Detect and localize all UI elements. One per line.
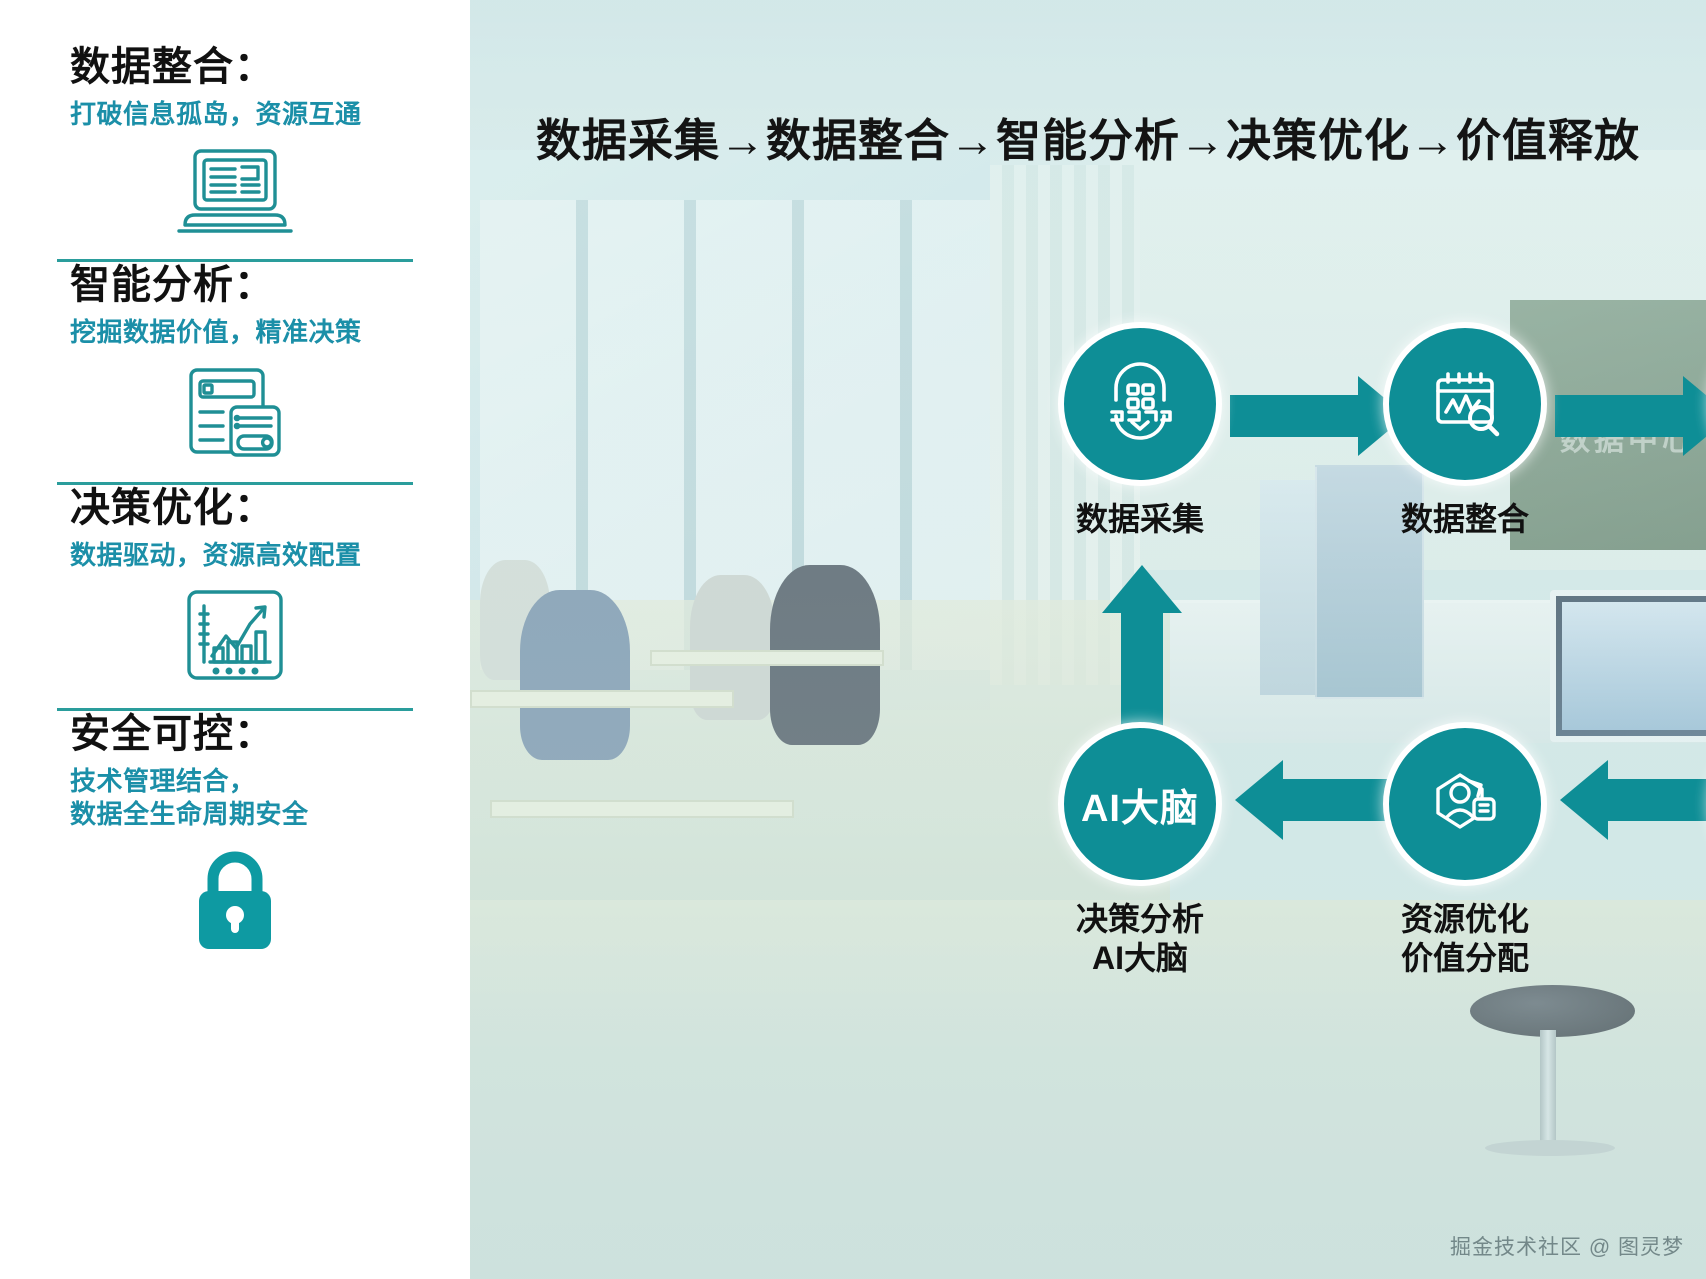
node-label: 数据整合 (1401, 500, 1529, 539)
node-label-line2: 价值分配 (1401, 940, 1529, 976)
node-label-line1: 决策分析 (1076, 901, 1204, 937)
node-label-line2: AI大脑 (1092, 940, 1188, 976)
node-data-collection[interactable]: 数据采集 (1058, 322, 1222, 539)
node-data-integration[interactable]: 数据整合 (1383, 322, 1547, 539)
section-subtitle: 技术管理结合， 数据全生命周期安全 (36, 765, 434, 832)
resource-optimize-icon (1422, 759, 1508, 850)
main-panel: 数据中心 数据采集→数据整合→智能分析→决策优化→价值释放 (470, 0, 1706, 1279)
section-title: 数据整合： (36, 44, 434, 90)
section-subtitle-line2: 数据全生命周期安全 (70, 799, 309, 829)
node-label: 数据采集 (1076, 500, 1204, 539)
section-title: 决策优化： (36, 485, 434, 531)
node-resource-optimization[interactable]: 资源优化 价值分配 (1383, 722, 1547, 978)
infographic-page: 数据整合： 打破信息孤岛，资源互通 智能分析： 挖掘数据价值，精准决策 (0, 0, 1706, 1279)
lock-icon (36, 845, 434, 955)
page-title: 数据采集→数据整合→智能分析→决策优化→价值释放 (470, 104, 1706, 169)
arrow-student-to-resource (1560, 760, 1706, 840)
node-circle[interactable] (1058, 322, 1222, 486)
growth-chart-icon (36, 586, 434, 690)
document-cards-icon (36, 364, 434, 464)
node-decision-ai-brain[interactable]: AI大脑 决策分析 AI大脑 (1058, 722, 1222, 978)
laptop-document-icon (36, 145, 434, 241)
node-circle[interactable]: AI大脑 (1058, 722, 1222, 886)
node-label: 决策分析 AI大脑 (1076, 900, 1204, 978)
sidebar-section-security: 安全可控： 技术管理结合， 数据全生命周期安全 (36, 711, 434, 956)
watermark: 掘金技术社区 @ 图灵梦 (1450, 1231, 1684, 1261)
node-circle[interactable] (1383, 722, 1547, 886)
classroom-background-photo: 数据中心 (470, 0, 1706, 1279)
sidebar-section-decision-optimization: 决策优化： 数据驱动，资源高效配置 (36, 485, 434, 711)
sidebar-section-intelligent-analysis: 智能分析： 挖掘数据价值，精准决策 (36, 262, 434, 484)
section-subtitle: 打破信息孤岛，资源互通 (36, 98, 434, 131)
chart-search-icon (1423, 360, 1507, 449)
node-circle[interactable] (1383, 322, 1547, 486)
section-subtitle-line1: 技术管理结合， (70, 766, 256, 796)
sidebar: 数据整合： 打破信息孤岛，资源互通 智能分析： 挖掘数据价值，精准决策 (0, 0, 470, 1279)
section-title: 智能分析： (36, 262, 434, 308)
section-subtitle: 挖掘数据价值，精准决策 (36, 316, 434, 349)
section-title: 安全可控： (36, 711, 434, 757)
data-capture-icon (1098, 360, 1182, 449)
node-label: 资源优化 价值分配 (1401, 900, 1529, 978)
arrow-integrate-to-network (1555, 376, 1706, 456)
node-inner-text: AI大脑 (1081, 777, 1199, 832)
node-label-line1: 资源优化 (1401, 901, 1529, 937)
section-subtitle: 数据驱动，资源高效配置 (36, 539, 434, 572)
sidebar-section-data-integration: 数据整合： 打破信息孤岛，资源互通 (36, 44, 434, 262)
